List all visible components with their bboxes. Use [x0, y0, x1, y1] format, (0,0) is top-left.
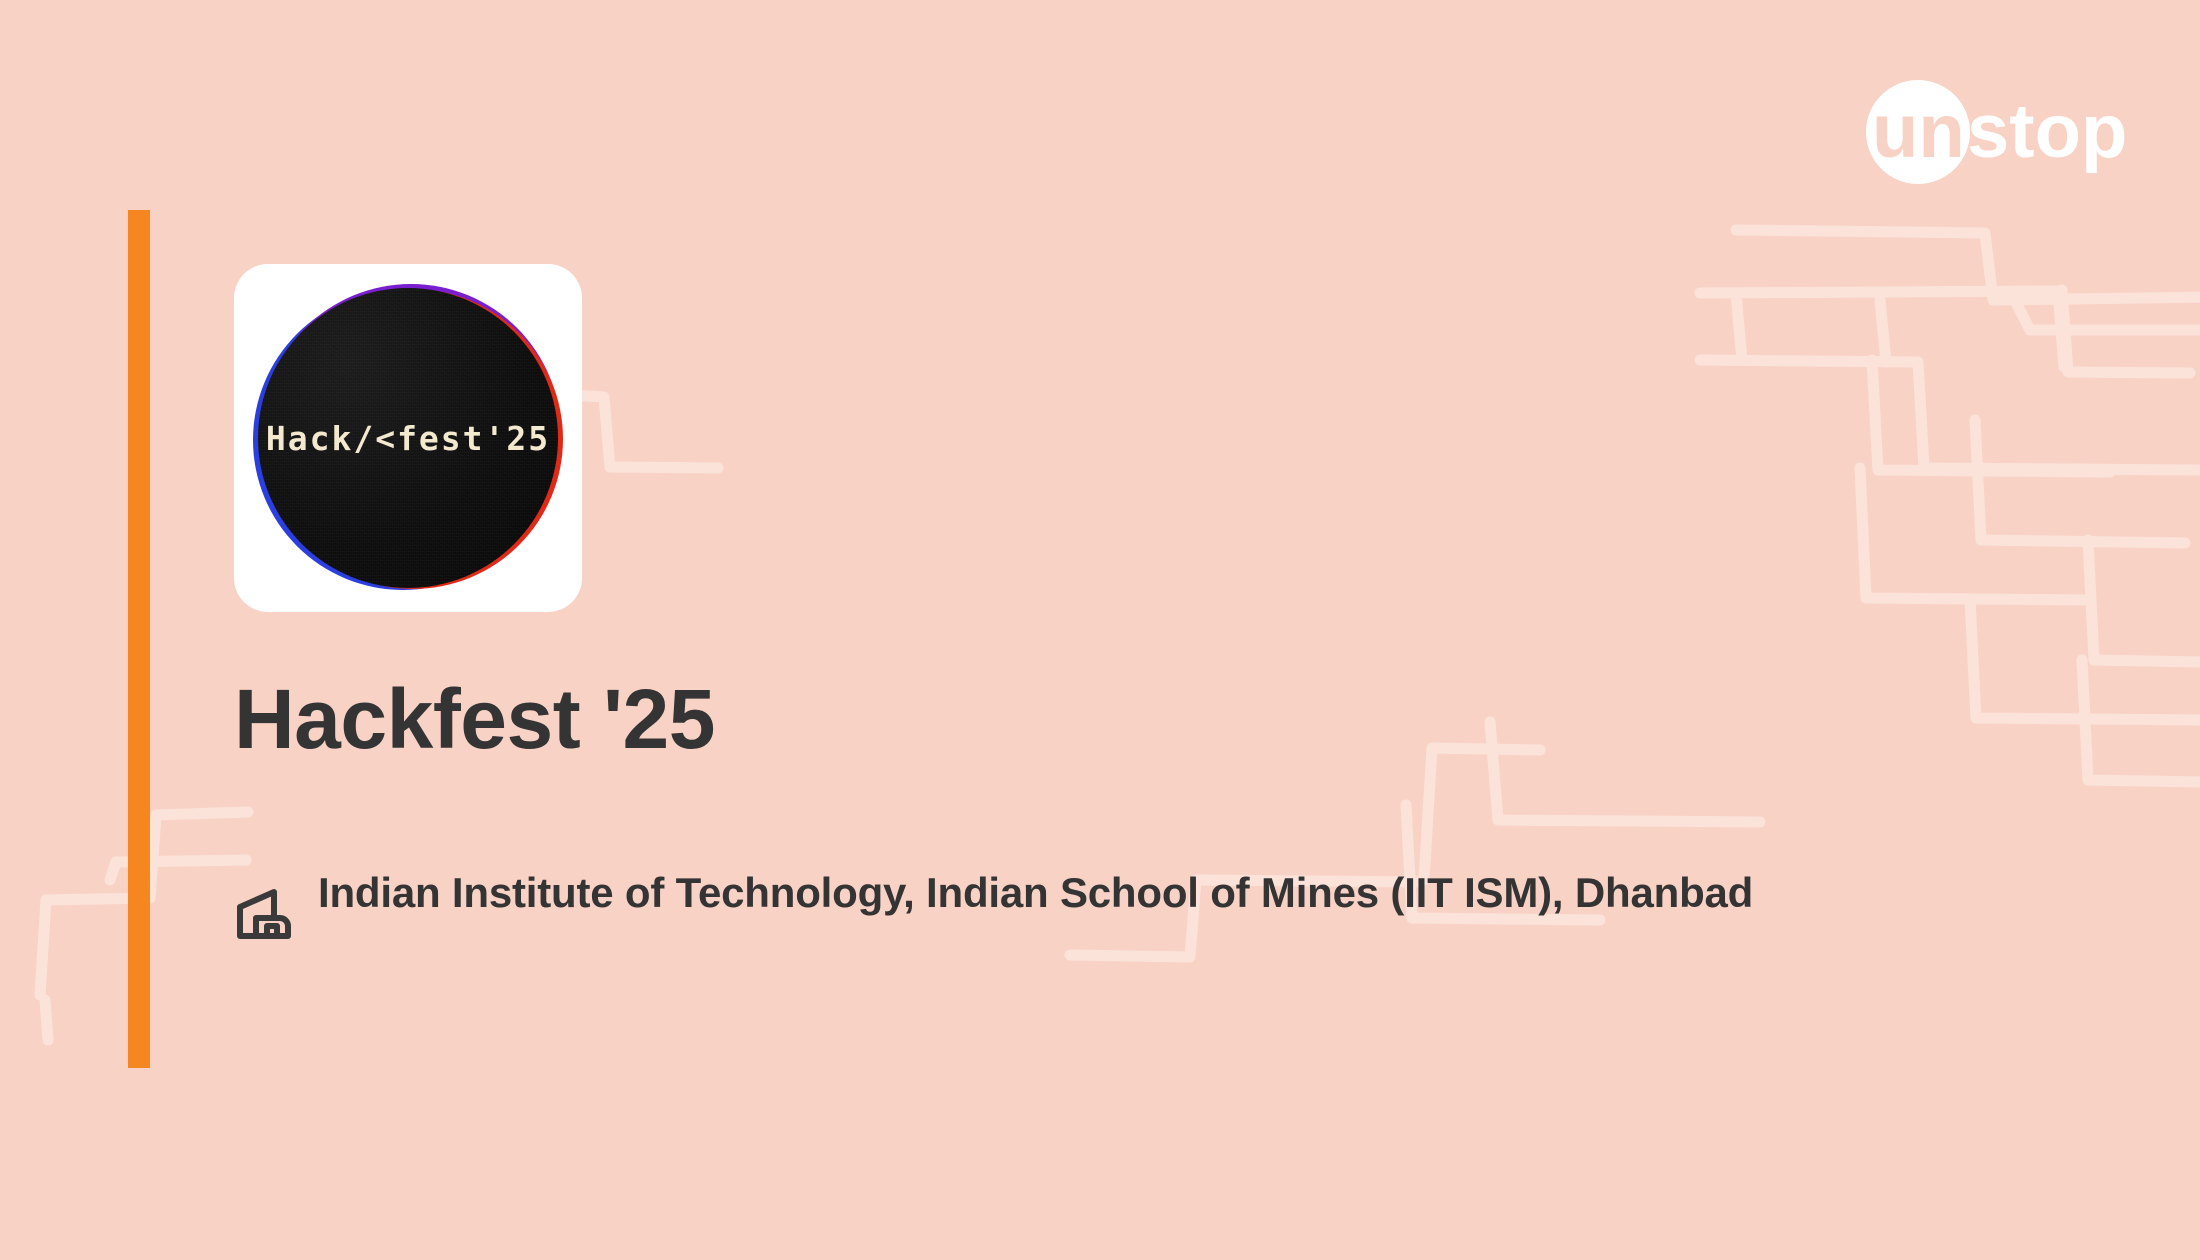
event-logo-tile[interactable]: Hack/<fest'25 [234, 264, 582, 612]
organiser-row: Indian Institute of Technology, Indian S… [236, 866, 2036, 940]
institute-building-icon [236, 888, 292, 940]
organiser-name: Indian Institute of Technology, Indian S… [318, 866, 1753, 920]
logo-wordmark-text: Hack/<fest'25 [266, 419, 550, 458]
unstop-wordmark-icon: un stop [1866, 80, 2138, 184]
unstop-mark-text: un [1872, 89, 1965, 174]
event-logo-disc: Hack/<fest'25 [258, 288, 558, 588]
unstop-logo[interactable]: un stop [1866, 80, 2138, 184]
staircase-line-pattern [0, 0, 2200, 1260]
logo-disc-face: Hack/<fest'25 [258, 288, 558, 588]
event-title: Hackfest '25 [234, 675, 715, 763]
orange-accent-bar [128, 210, 150, 1068]
unstop-word-text: stop [1967, 89, 2127, 174]
event-banner: un stop Hack/<fest'25 Hackfest '25 India… [0, 0, 2200, 1260]
